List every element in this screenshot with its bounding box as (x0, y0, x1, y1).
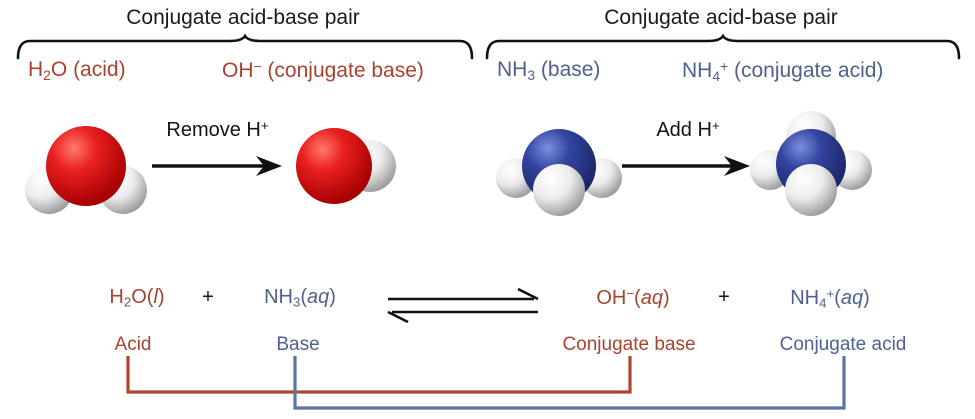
equation-plus-1: + (190, 286, 226, 309)
water-molecule-H2O (22, 118, 152, 214)
right-pair-heading: Conjugate acid-base pair (487, 6, 955, 30)
base-conjugate-acid-connector (288, 356, 854, 418)
equation-product-ammonium: NH4+(aq) (760, 286, 900, 311)
add-proton-arrow-icon (622, 155, 752, 177)
equation-reactant-water: H2O(l) (82, 286, 192, 310)
remove-proton-arrow-icon (152, 155, 284, 177)
ammonia-formula: NH3 (497, 58, 535, 81)
ammonium-ion-NH4 (752, 112, 876, 218)
left-pair-brace-icon (14, 36, 474, 60)
species-label-ammonia: NH3 (base) (497, 58, 600, 83)
left-pair-heading: Conjugate acid-base pair (18, 6, 468, 30)
role-label-base: Base (250, 334, 346, 356)
hydroxide-ion-OH (294, 126, 406, 208)
role-label-acid: Acid (88, 334, 178, 356)
ammonia-molecule-NH3 (496, 120, 626, 218)
hydroxide-formula: OH− (222, 59, 262, 82)
right-pair-brace-icon (483, 36, 961, 60)
water-formula: H2O (28, 58, 67, 81)
oxygen-sphere (296, 128, 372, 204)
role-label-conjugate-base: Conjugate base (532, 334, 726, 356)
oxygen-sphere (46, 126, 126, 206)
hydrogen-sphere (785, 164, 837, 216)
species-label-water: H2O (acid) (28, 58, 126, 83)
add-proton-caption: Add H+ (628, 118, 748, 142)
remove-proton-caption: Remove H+ (150, 118, 285, 142)
equation-plus-2: + (706, 286, 742, 309)
species-label-hydroxide: OH− (conjugate base) (222, 58, 424, 83)
equilibrium-arrow-icon (388, 288, 540, 322)
equation-reactant-ammonia: NH3(aq) (240, 286, 360, 310)
hydrogen-sphere (533, 164, 585, 216)
conjugate-acid-base-pair-diagram: Conjugate acid-base pair Conjugate acid-… (0, 0, 975, 419)
ammonium-formula: NH4+ (682, 59, 728, 82)
equation-product-hydroxide: OH−(aq) (578, 286, 688, 310)
role-label-conjugate-acid: Conjugate acid (748, 334, 938, 356)
species-label-ammonium: NH4+ (conjugate acid) (682, 58, 883, 84)
